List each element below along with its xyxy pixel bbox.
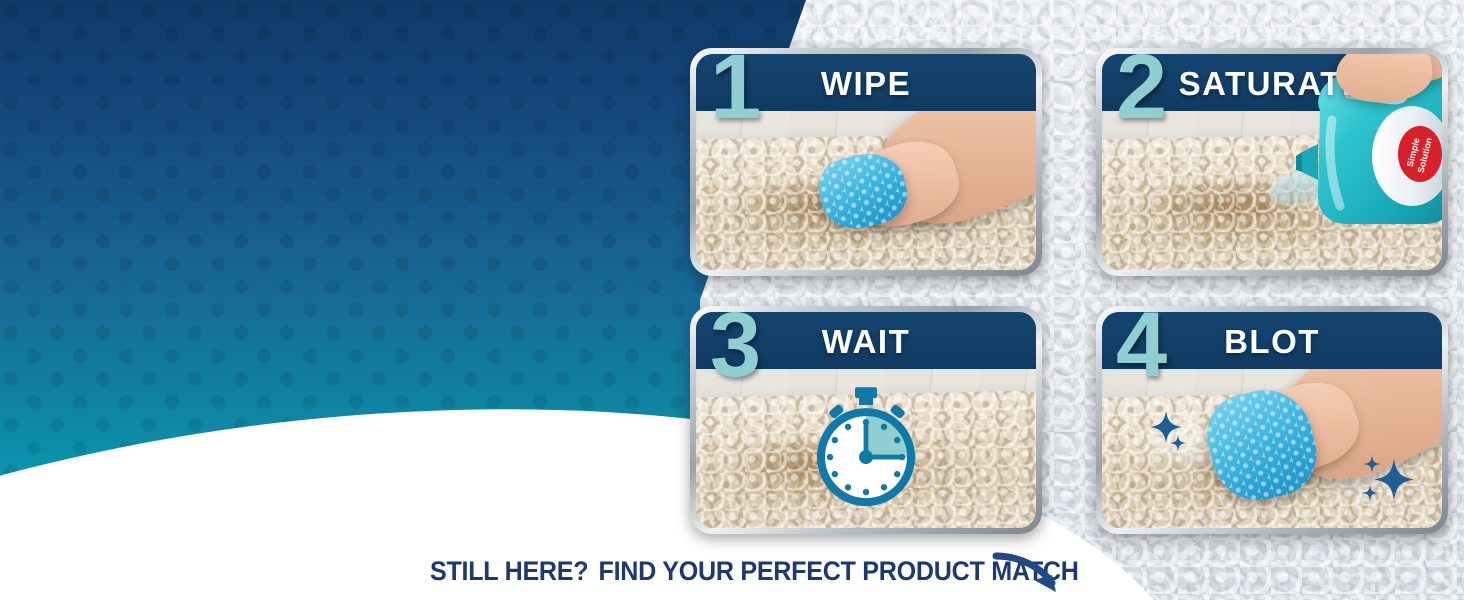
- step-card-2[interactable]: Simple Solution 2 SATURATE: [1096, 48, 1448, 276]
- tagline: STILL HERE?FIND YOUR PERFECT PRODUCT MAT…: [430, 556, 1079, 587]
- step-card-1[interactable]: 1 WIPE: [690, 48, 1042, 276]
- tagline-part-1: STILL HERE?: [430, 556, 588, 586]
- sparkle-icon: [1148, 411, 1188, 456]
- step-2-number: 2: [1116, 54, 1165, 133]
- step-card-4-inner: 4 BLOT: [1102, 312, 1442, 528]
- stain-removal-steps-banner: 1 WIPE: [0, 0, 1464, 600]
- stopwatch-icon: [807, 387, 925, 516]
- step-3-number: 3: [710, 312, 759, 391]
- step-card-3[interactable]: 3 WAIT: [690, 306, 1042, 534]
- step-1-number: 1: [710, 54, 759, 133]
- sparkle-icon: [1360, 451, 1414, 510]
- step-4-number: 4: [1116, 312, 1165, 391]
- step-card-1-inner: 1 WIPE: [696, 54, 1036, 270]
- step-card-3-inner: 3 WAIT: [696, 312, 1036, 528]
- curved-arrow-icon: [992, 550, 1066, 600]
- step-card-2-inner: Simple Solution 2 SATURATE: [1102, 54, 1442, 270]
- step-card-4[interactable]: 4 BLOT: [1096, 306, 1448, 534]
